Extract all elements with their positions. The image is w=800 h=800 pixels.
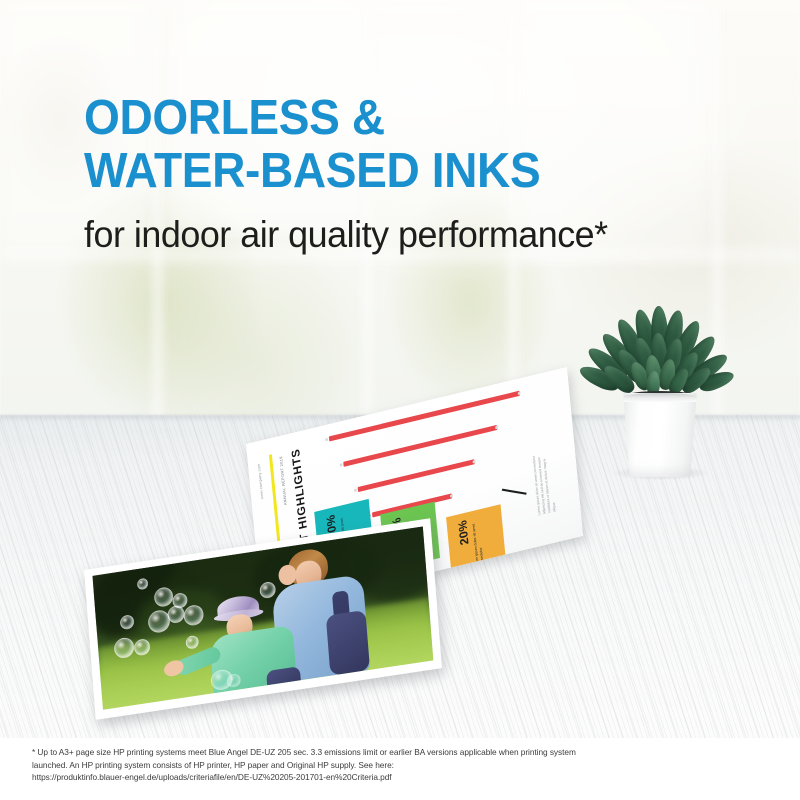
headline-line-1: ODORLESS &	[84, 92, 686, 145]
stat-card-3-value: 20%	[455, 519, 471, 546]
footnote-line-2: launched. An HP printing system consists…	[32, 759, 772, 772]
scene-stage: ODORLESS & WATER-BASED INKS for indoor a…	[0, 0, 800, 800]
headline-line-2: WATER-BASED INKS	[84, 145, 686, 198]
brochure-eyebrow: ANNUAL REPORT 2019	[279, 456, 288, 506]
photo-child-young-shorts	[266, 666, 301, 693]
chart-bar-endpoint	[354, 488, 357, 492]
brochure-rule	[502, 489, 527, 495]
subheadline: for indoor air quality performance*	[84, 213, 608, 257]
chart-bar-endpoint	[518, 391, 521, 395]
footnote-line-3: https://produktinfo.blauer-engel.de/uplo…	[32, 771, 772, 784]
footnote-line-1: * Up to A3+ page size HP printing system…	[32, 746, 772, 759]
ceramic-pot	[620, 393, 700, 477]
pot-rim	[620, 393, 700, 402]
potted-plant	[585, 305, 735, 495]
chart-bar-endpoint	[325, 438, 328, 442]
chart-bar	[358, 459, 475, 492]
chart-bar-endpoint	[495, 426, 498, 430]
chart-bar-endpoint	[339, 463, 342, 467]
brochure-side-label: www.company.com	[257, 463, 264, 499]
chart-bar-endpoint	[450, 494, 453, 498]
brochure-accent-line	[269, 454, 281, 547]
footnote-disclaimer: * Up to A3+ page size HP printing system…	[32, 746, 772, 784]
headline-block: ODORLESS & WATER-BASED INKS	[84, 92, 724, 198]
photo-child-older-trousers	[326, 610, 370, 676]
chart-bar-endpoint	[472, 460, 475, 464]
